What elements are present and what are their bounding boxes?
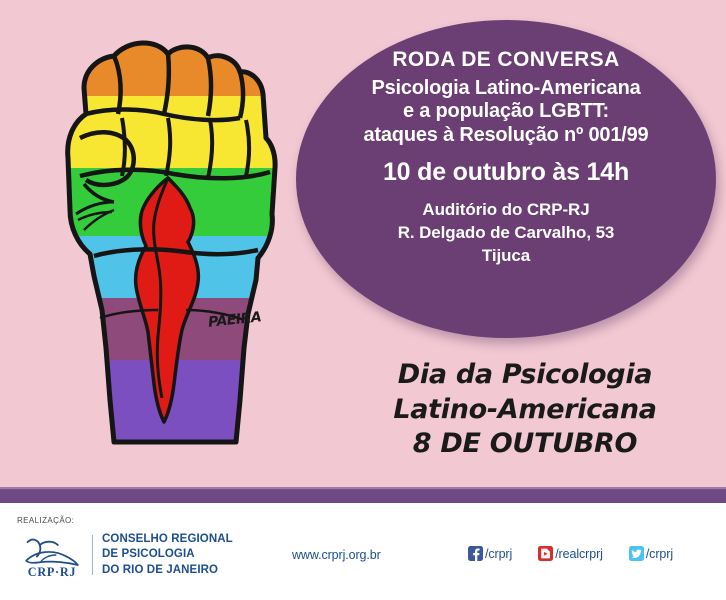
logo-name-line-2: DE PSICOLOGIA bbox=[102, 547, 233, 562]
event-title: RODA DE CONVERSA bbox=[392, 48, 619, 73]
event-subtitle-3: ataques à Resolução nº 001/99 bbox=[364, 124, 649, 148]
event-venue-3: Tijuca bbox=[482, 245, 530, 268]
logo-name-block: CONSELHO REGIONAL DE PSICOLOGIA DO RIO D… bbox=[102, 532, 233, 578]
logo-name-line-1: CONSELHO REGIONAL bbox=[102, 532, 233, 547]
event-venue-2: R. Delgado de Carvalho, 53 bbox=[398, 222, 615, 245]
event-subtitle-2: e a população LGBTT: bbox=[403, 100, 609, 124]
commemorative-line-1: Dia da Psicologia bbox=[340, 358, 710, 393]
crp-rj-acronym: CRP·RJ bbox=[28, 565, 76, 578]
event-subtitle-1: Psicologia Latino-Americana bbox=[371, 77, 640, 101]
facebook-icon bbox=[468, 546, 483, 561]
commemorative-line-2: Latino-Americana bbox=[340, 393, 710, 428]
social-links-row: /crprj /realcrprj /crprj bbox=[468, 546, 673, 561]
crp-rj-logo-mark: CRP·RJ bbox=[16, 532, 88, 578]
social-link-facebook[interactable]: /crprj bbox=[468, 546, 512, 561]
event-date: 10 de outubro às 14h bbox=[383, 158, 629, 188]
facebook-handle: /crprj bbox=[485, 547, 512, 561]
youtube-icon bbox=[538, 546, 553, 561]
social-link-youtube[interactable]: /realcrprj bbox=[538, 546, 603, 561]
twitter-handle: /crprj bbox=[646, 547, 673, 561]
purple-divider-stripe bbox=[0, 489, 726, 503]
commemorative-line-3: 8 DE OUTUBRO bbox=[340, 427, 710, 462]
raised-fist-illustration bbox=[18, 18, 318, 468]
poster-root: PAEIRA RODA DE CONVERSA Psicologia Latin… bbox=[0, 0, 726, 600]
crp-rj-logo: CRP·RJ CONSELHO REGIONAL DE PSICOLOGIA D… bbox=[16, 532, 233, 578]
realizacao-label: REALIZAÇÃO: bbox=[17, 516, 74, 525]
logo-name-line-3: DO RIO DE JANEIRO bbox=[102, 563, 233, 578]
website-url[interactable]: www.crprj.org.br bbox=[292, 548, 381, 562]
event-venue-1: Auditório do CRP-RJ bbox=[422, 199, 589, 222]
event-info-ellipse: RODA DE CONVERSA Psicologia Latino-Ameri… bbox=[296, 20, 716, 338]
youtube-handle: /realcrprj bbox=[555, 547, 603, 561]
commemorative-date-block: Dia da Psicologia Latino-Americana 8 DE … bbox=[340, 358, 710, 462]
social-link-twitter[interactable]: /crprj bbox=[629, 546, 673, 561]
logo-divider-rule bbox=[92, 535, 93, 575]
twitter-icon bbox=[629, 546, 644, 561]
